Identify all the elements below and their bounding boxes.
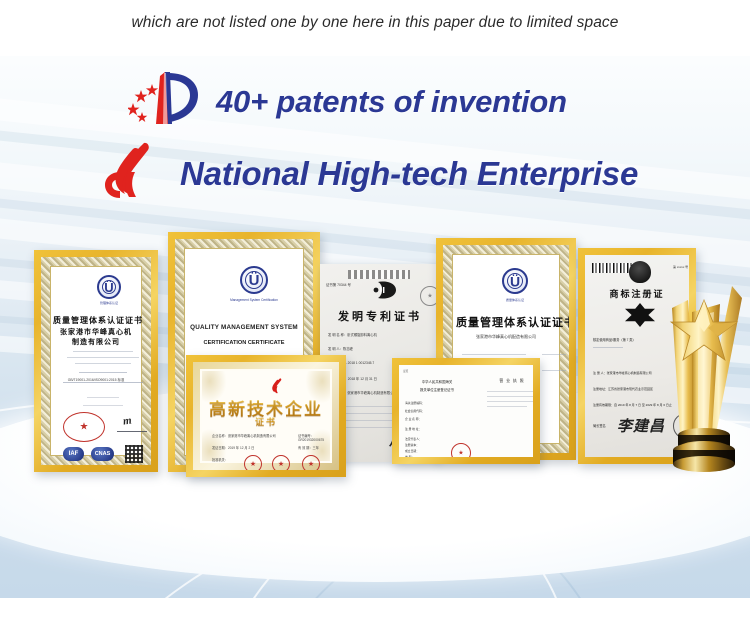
ht-field-value: GR201932000675 bbox=[298, 438, 324, 442]
cert-emblem-icon: Ü bbox=[502, 268, 528, 294]
ht-field-label: 发证日期： bbox=[212, 446, 228, 450]
ht-subtitle-cn: 证书 bbox=[202, 415, 330, 428]
cnas-logo-icon: CNAS bbox=[91, 447, 114, 461]
reg-field: 社会信用代码： bbox=[405, 409, 425, 413]
trademark-barcode bbox=[592, 263, 634, 273]
reg-field: 法定代表人： bbox=[405, 437, 422, 441]
cert-title-cn: 质量管理体系认证证书 bbox=[456, 314, 556, 330]
reg-left-title-1: 中华人民共和国海关 bbox=[405, 379, 469, 384]
national-emblem-icon bbox=[629, 261, 651, 283]
reg-field: 注 册 地 址： bbox=[405, 427, 421, 431]
cert-seal: ★ bbox=[63, 412, 105, 442]
certificate-high-tech-enterprise[interactable]: 高新技术企业 证书 企业名称：张家港市华峰离心机制造有限公司 证书编号：GR20… bbox=[186, 355, 346, 477]
trademark-logo-mark bbox=[625, 303, 655, 327]
ht-field-label: 企业名称： bbox=[212, 434, 228, 438]
patent-field: 发 明 名 称：卧式螺旋卸料离心机 bbox=[328, 332, 377, 337]
high-tech-flame-logo-icon bbox=[100, 142, 166, 205]
reg-field: 成立日期： bbox=[405, 449, 419, 453]
trademark-class: 核定使用商品/服务（第 7 类） bbox=[593, 337, 636, 342]
trademark-field: 注 册 人：张家港市华峰离心机制造有限公司 bbox=[593, 371, 652, 375]
ht-seal: ★ bbox=[302, 455, 320, 470]
ht-field-value: 三年 bbox=[313, 446, 319, 450]
caption-text: which are not listed one by one here in … bbox=[0, 14, 750, 32]
cert-title-line2: CERTIFICATION CERTIFICATE bbox=[188, 340, 300, 346]
cert-company-line2: 制造有限公司 bbox=[53, 337, 139, 347]
certificate-showcase-banner: which are not listed one by one here in … bbox=[0, 0, 750, 639]
reg-field: 企 业 名 称： bbox=[405, 417, 421, 421]
caption-band: which are not listed one by one here in … bbox=[0, 0, 750, 56]
patent-field: 发 明 人：陈志峰 bbox=[328, 346, 353, 351]
headline-high-tech: National High-tech Enterprise bbox=[100, 142, 638, 205]
headline-patents-text: 40+ patents of invention bbox=[216, 84, 567, 120]
bottom-white-strip bbox=[0, 598, 750, 639]
cert-emblem-caption: 质量体系认证 bbox=[478, 298, 552, 302]
headline-patents: 40+ patents of invention bbox=[128, 70, 567, 133]
reg-right-title: 营业执照 bbox=[485, 379, 533, 384]
ht-field-label: 有 效 期： bbox=[298, 446, 313, 450]
ht-seal: ★ bbox=[272, 455, 290, 470]
patent-logo-icon bbox=[128, 70, 202, 133]
cert-title-cn: 质量管理体系认证证书 bbox=[53, 315, 139, 326]
cert-standard: GB/T19001-2016/ISO9001:2015 标准 bbox=[53, 377, 139, 382]
cert-qr-code bbox=[125, 445, 143, 463]
ht-seal: ★ bbox=[244, 455, 262, 470]
high-tech-flame-icon bbox=[268, 377, 286, 395]
cert-emblem-caption: 管理体系认证 bbox=[83, 301, 135, 305]
headline-high-tech-text: National High-tech Enterprise bbox=[180, 155, 638, 193]
ht-field-label: 批准机关： bbox=[212, 457, 228, 462]
iaf-logo-icon: IAF bbox=[63, 447, 84, 461]
patent-title-cn: 发明专利证书 bbox=[320, 308, 440, 324]
cert-subtitle-cn: 张家港市华峰真心机配造有限公司 bbox=[456, 334, 556, 340]
reg-left-title-2: 报关单位注册登记证书 bbox=[405, 387, 469, 392]
ht-field-value: 张家港市华峰离心机制造有限公司 bbox=[228, 434, 276, 438]
star-trophy bbox=[658, 282, 750, 474]
cert-emblem-icon: Ü bbox=[240, 266, 268, 294]
cert-title-line1: QUALITY MANAGEMENT SYSTEM bbox=[188, 324, 300, 331]
cert-emblem-icon: Ü bbox=[97, 275, 121, 299]
reg-field: 注册资本： bbox=[405, 443, 419, 447]
reg-field: 海关注册编码： bbox=[405, 401, 425, 405]
cert-company-line1: 张家港市华峰真心机 bbox=[53, 327, 139, 337]
cert-emblem-caption: Management System Certification bbox=[214, 298, 294, 302]
patent-office-emblem-icon bbox=[372, 278, 398, 302]
cert-signature: m bbox=[122, 414, 132, 427]
patent-number-label: 证书第 70344 号 bbox=[326, 282, 351, 287]
certificate-registration-document[interactable]: 证照 中华人民共和国海关 报关单位注册登记证书 营业执照 海关注册编码： 社会信… bbox=[392, 358, 540, 464]
trademark-field: 注册地址：江苏省张家港市现代农业示范园区 bbox=[593, 387, 653, 391]
ht-field-value: 2019 年 12 月 2 日 bbox=[228, 446, 254, 450]
reg-seal: ★ bbox=[451, 443, 471, 457]
certificate-iso-quality-cn[interactable]: Ü 管理体系认证 质量管理体系认证证书 张家港市华峰真心机 制造有限公司 GB/… bbox=[34, 250, 158, 472]
reg-field: 类 型： bbox=[405, 455, 414, 457]
